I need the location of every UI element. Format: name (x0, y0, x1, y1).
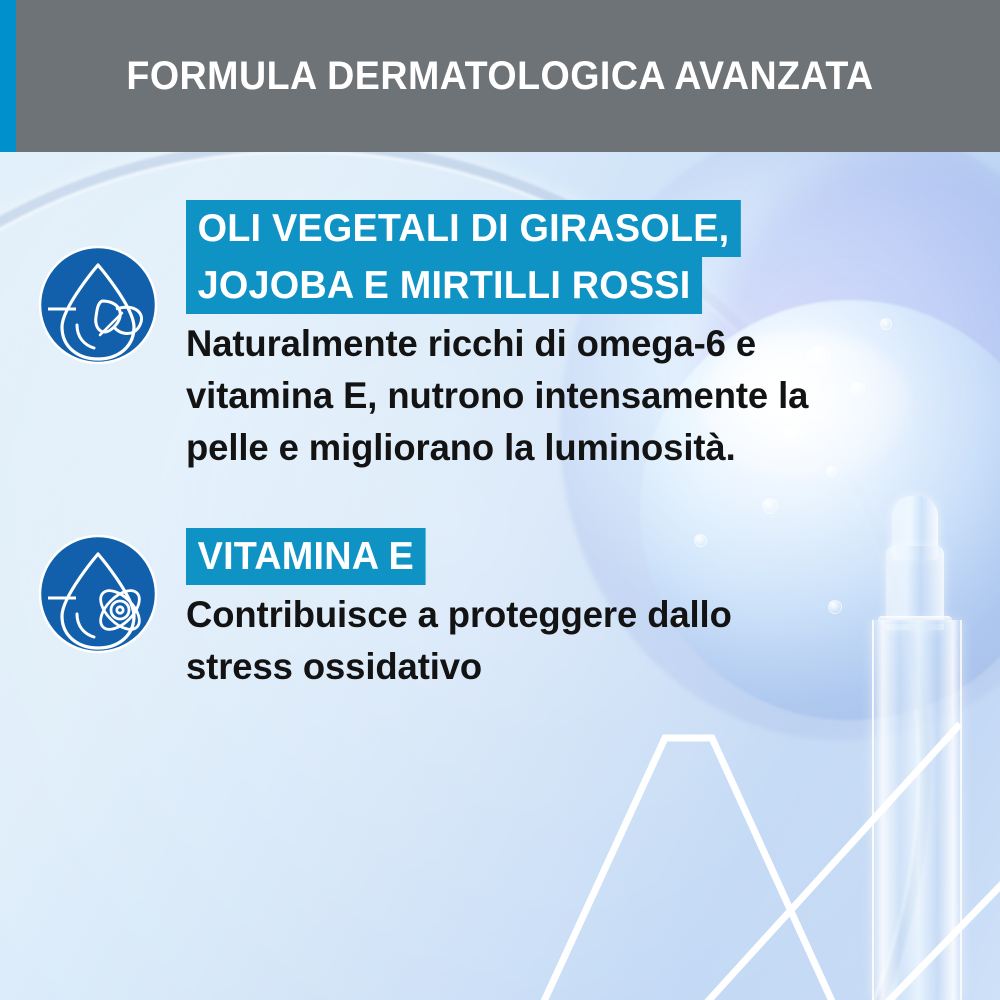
page-title: FORMULA DERMATOLOGICA AVANZATA (30, 0, 970, 152)
bubble-10 (828, 600, 842, 614)
glass-ampoule (862, 490, 966, 1000)
body-line: pelle e migliorano la luminosità. (186, 422, 808, 474)
bubble-6 (826, 466, 837, 477)
feature-body-vegetable-oils: Naturalmente ricchi di omega-6 e vitamin… (186, 318, 808, 474)
bubble-2 (850, 382, 865, 397)
body-line: Contribuisce a proteggere dallo (186, 589, 732, 641)
body-line: Naturalmente ricchi di omega-6 e (186, 318, 808, 370)
feature-tag-line: OLI VEGETALI DI GIRASOLE, (186, 200, 741, 257)
body-line: vitamina E, nutrono intensamente la (186, 370, 808, 422)
ampoule-body (872, 620, 962, 1000)
header-accent-stripe (0, 0, 16, 152)
feature-body-vitamin-e: Contribuisce a proteggere dallo stress o… (186, 589, 732, 693)
feature-text-vegetable-oils: OLI VEGETALI DI GIRASOLE, JOJOBA E MIRTI… (186, 200, 818, 474)
bubble-7 (762, 498, 778, 514)
feature-text-vitamin-e: VITAMINA E Contribuisce a proteggere dal… (186, 528, 740, 693)
body-line: stress ossidativo (186, 641, 732, 693)
bubble-9 (880, 318, 892, 330)
feature-tag-line: VITAMINA E (186, 528, 426, 585)
droplet-molecule-icon (36, 532, 160, 656)
feature-block-vegetable-oils: OLI VEGETALI DI GIRASOLE, JOJOBA E MIRTI… (36, 200, 818, 474)
droplet-leaf-icon (36, 243, 160, 367)
feature-tag-line: JOJOBA E MIRTILLI ROSSI (186, 257, 702, 314)
feature-block-vitamin-e: VITAMINA E Contribuisce a proteggere dal… (36, 528, 740, 693)
product-feature-poster: FORMULA DERMATOLOGICA AVANZATA OLI VEGET… (0, 0, 1000, 1000)
